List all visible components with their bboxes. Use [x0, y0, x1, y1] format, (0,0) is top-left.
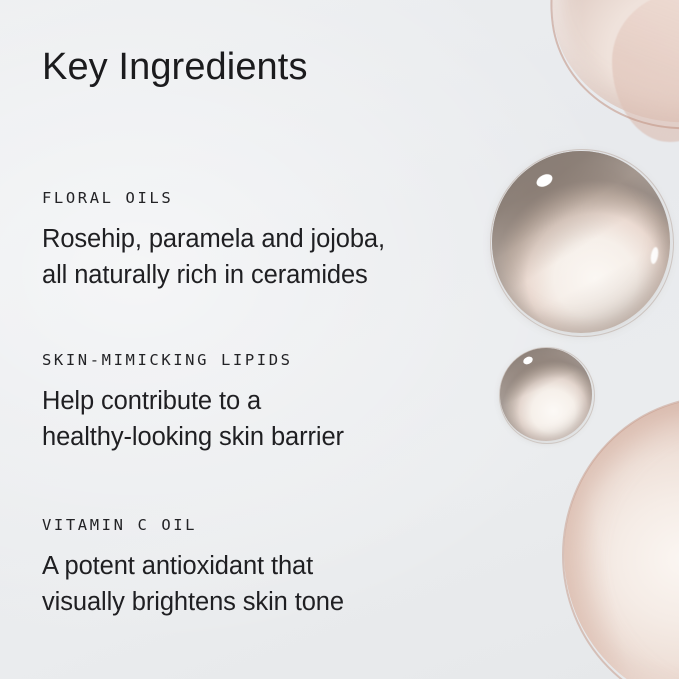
key-ingredients-panel: Key Ingredients FLORAL OILS Rosehip, par… — [0, 0, 679, 679]
description-line: visually brightens skin tone — [42, 584, 472, 620]
ingredient-description-skin-mimicking-lipids: Help contribute to a healthy-looking ski… — [42, 383, 472, 455]
description-line: Rosehip, paramela and jojoba, — [42, 221, 472, 257]
ingredient-section-floral-oils: FLORAL OILS Rosehip, paramela and jojoba… — [42, 188, 472, 293]
ingredient-description-floral-oils: Rosehip, paramela and jojoba, all natura… — [42, 221, 472, 293]
ingredient-label-vitamin-c-oil: VITAMIN C OIL — [42, 515, 472, 535]
ingredient-section-skin-mimicking-lipids: SKIN-MIMICKING LIPIDS Help contribute to… — [42, 350, 472, 455]
content-layer: Key Ingredients FLORAL OILS Rosehip, par… — [0, 0, 679, 679]
description-line: healthy-looking skin barrier — [42, 419, 472, 455]
ingredient-description-vitamin-c-oil: A potent antioxidant that visually brigh… — [42, 548, 472, 620]
description-line: A potent antioxidant that — [42, 548, 472, 584]
description-line: all naturally rich in ceramides — [42, 257, 472, 293]
description-line: Help contribute to a — [42, 383, 472, 419]
ingredient-label-floral-oils: FLORAL OILS — [42, 188, 472, 208]
page-title: Key Ingredients — [42, 44, 308, 90]
ingredient-section-vitamin-c-oil: VITAMIN C OIL A potent antioxidant that … — [42, 515, 472, 620]
ingredient-label-skin-mimicking-lipids: SKIN-MIMICKING LIPIDS — [42, 350, 472, 370]
